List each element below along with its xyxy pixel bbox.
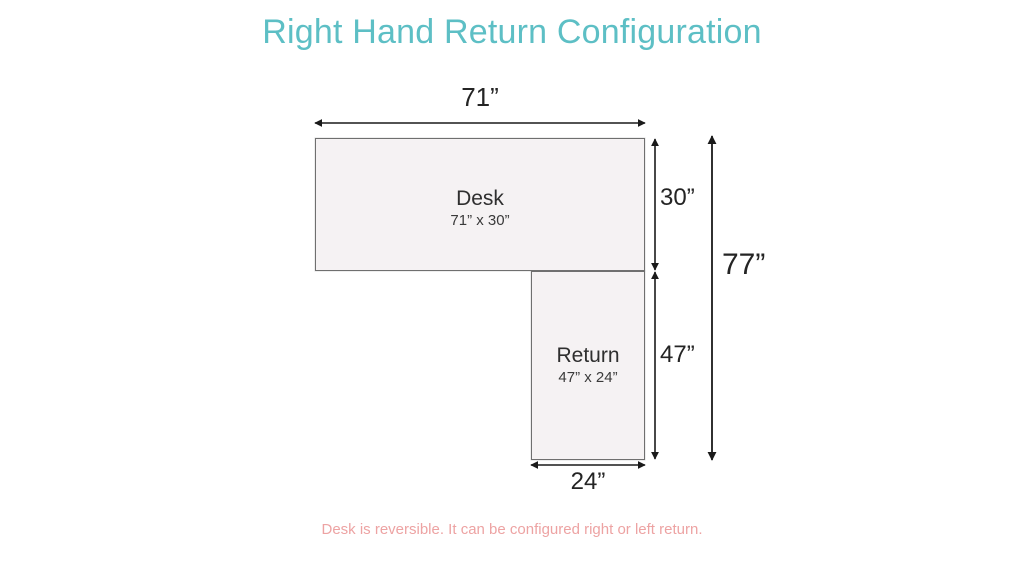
return-panel-labels: Return 47” x 24” — [531, 343, 645, 388]
desk-panel-dimensions: 71” x 30” — [315, 211, 645, 231]
dimension-label-return-length: 47” — [660, 341, 695, 369]
reversible-note: Desk is reversible. It can be configured… — [0, 521, 1024, 538]
return-panel-name: Return — [531, 343, 645, 368]
desk-panel-labels: Desk 71” x 30” — [315, 186, 645, 231]
diagram-canvas: Right Hand Return Configuration Desk 71”… — [0, 0, 1024, 576]
dimension-label-top-width: 71” — [315, 82, 645, 113]
return-panel-dimensions: 47” x 24” — [531, 368, 645, 388]
dimension-label-overall-height: 77” — [722, 248, 765, 282]
dimension-label-desk-depth: 30” — [660, 184, 695, 212]
dimension-label-return-width: 24” — [531, 468, 645, 496]
desk-panel-name: Desk — [315, 186, 645, 211]
